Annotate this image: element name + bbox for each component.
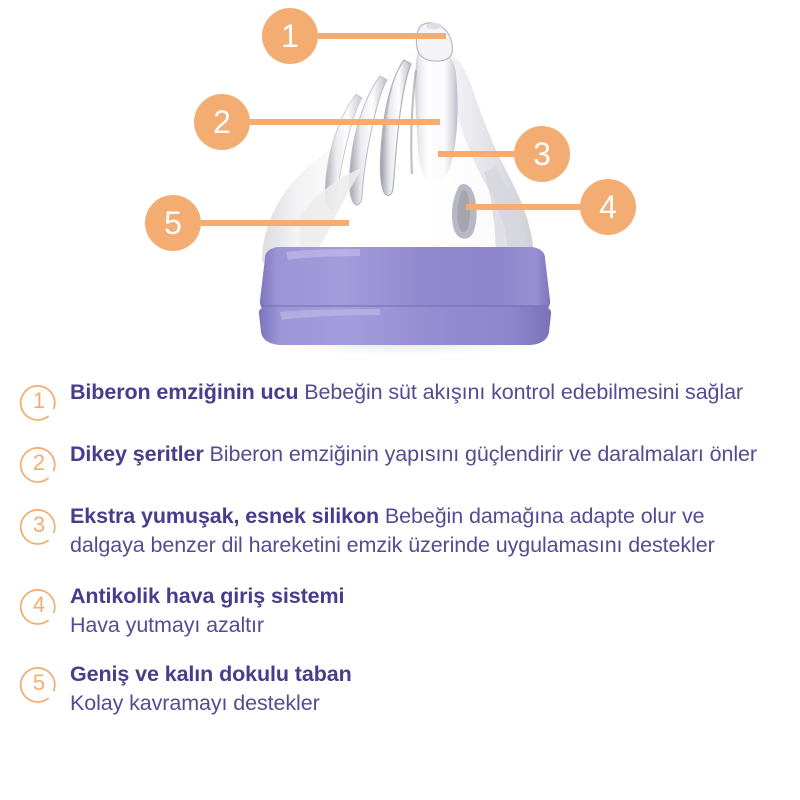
feature-description: Biberon emziğinin yapısını güçlendirir v… bbox=[204, 442, 757, 466]
list-item: 1 Biberon emziğinin ucu Bebeğin süt akış… bbox=[0, 378, 800, 422]
feature-description: Kolay kavramayı destekler bbox=[70, 689, 772, 718]
teat-tip-column bbox=[415, 45, 457, 183]
leader-line-2 bbox=[250, 119, 440, 125]
feature-text: Biberon emziğinin ucu Bebeğin süt akışın… bbox=[70, 378, 800, 407]
feature-text: Ekstra yumuşak, esnek silikon Bebeğin da… bbox=[70, 502, 800, 560]
feature-title: Dikey şeritler bbox=[70, 442, 204, 466]
list-number-badge-4: 4 bbox=[18, 584, 60, 626]
feature-text: Antikolik hava giriş sistemi Hava yutmay… bbox=[70, 582, 800, 640]
feature-description: Hava yutmayı azaltır bbox=[70, 611, 772, 640]
bottle-nipple-image bbox=[0, 0, 800, 372]
list-item: 5 Geniş ve kalın dokulu taban Kolay kavr… bbox=[0, 660, 800, 718]
list-number-badge-3: 3 bbox=[18, 504, 60, 546]
feature-title: Ekstra yumuşak, esnek silikon bbox=[70, 504, 379, 528]
callout-badge-2: 2 bbox=[194, 94, 250, 150]
list-number-label: 4 bbox=[18, 584, 60, 626]
leader-line-5 bbox=[201, 220, 349, 226]
teat-tip-hole bbox=[426, 23, 442, 29]
list-item: 3 Ekstra yumuşak, esnek silikon Bebeğin … bbox=[0, 502, 800, 560]
feature-title: Geniş ve kalın dokulu taban bbox=[70, 662, 352, 686]
callout-badge-3: 3 bbox=[514, 126, 570, 182]
list-item: 2 Dikey şeritler Biberon emziğinin yapıs… bbox=[0, 440, 800, 484]
feature-text: Geniş ve kalın dokulu taban Kolay kavram… bbox=[70, 660, 800, 718]
list-number-label: 1 bbox=[18, 380, 60, 422]
callout-badge-4: 4 bbox=[580, 179, 636, 235]
feature-description: Bebeğin süt akışını kontrol edebilmesini… bbox=[298, 380, 743, 404]
leader-line-1 bbox=[318, 33, 446, 39]
feature-title: Antikolik hava giriş sistemi bbox=[70, 584, 344, 608]
list-number-badge-5: 5 bbox=[18, 662, 60, 704]
list-item: 4 Antikolik hava giriş sistemi Hava yutm… bbox=[0, 582, 800, 640]
list-number-label: 2 bbox=[18, 442, 60, 484]
list-number-label: 5 bbox=[18, 662, 60, 704]
feature-title: Biberon emziğinin ucu bbox=[70, 380, 298, 404]
list-number-badge-1: 1 bbox=[18, 380, 60, 422]
list-number-badge-2: 2 bbox=[18, 442, 60, 484]
feature-text: Dikey şeritler Biberon emziğinin yapısın… bbox=[70, 440, 800, 469]
product-illustration: 1 2 3 4 5 bbox=[0, 0, 800, 372]
list-number-label: 3 bbox=[18, 504, 60, 546]
callout-badge-5: 5 bbox=[145, 195, 201, 251]
feature-list: 1 Biberon emziğinin ucu Bebeğin süt akış… bbox=[0, 378, 800, 718]
callout-badge-1: 1 bbox=[262, 8, 318, 64]
